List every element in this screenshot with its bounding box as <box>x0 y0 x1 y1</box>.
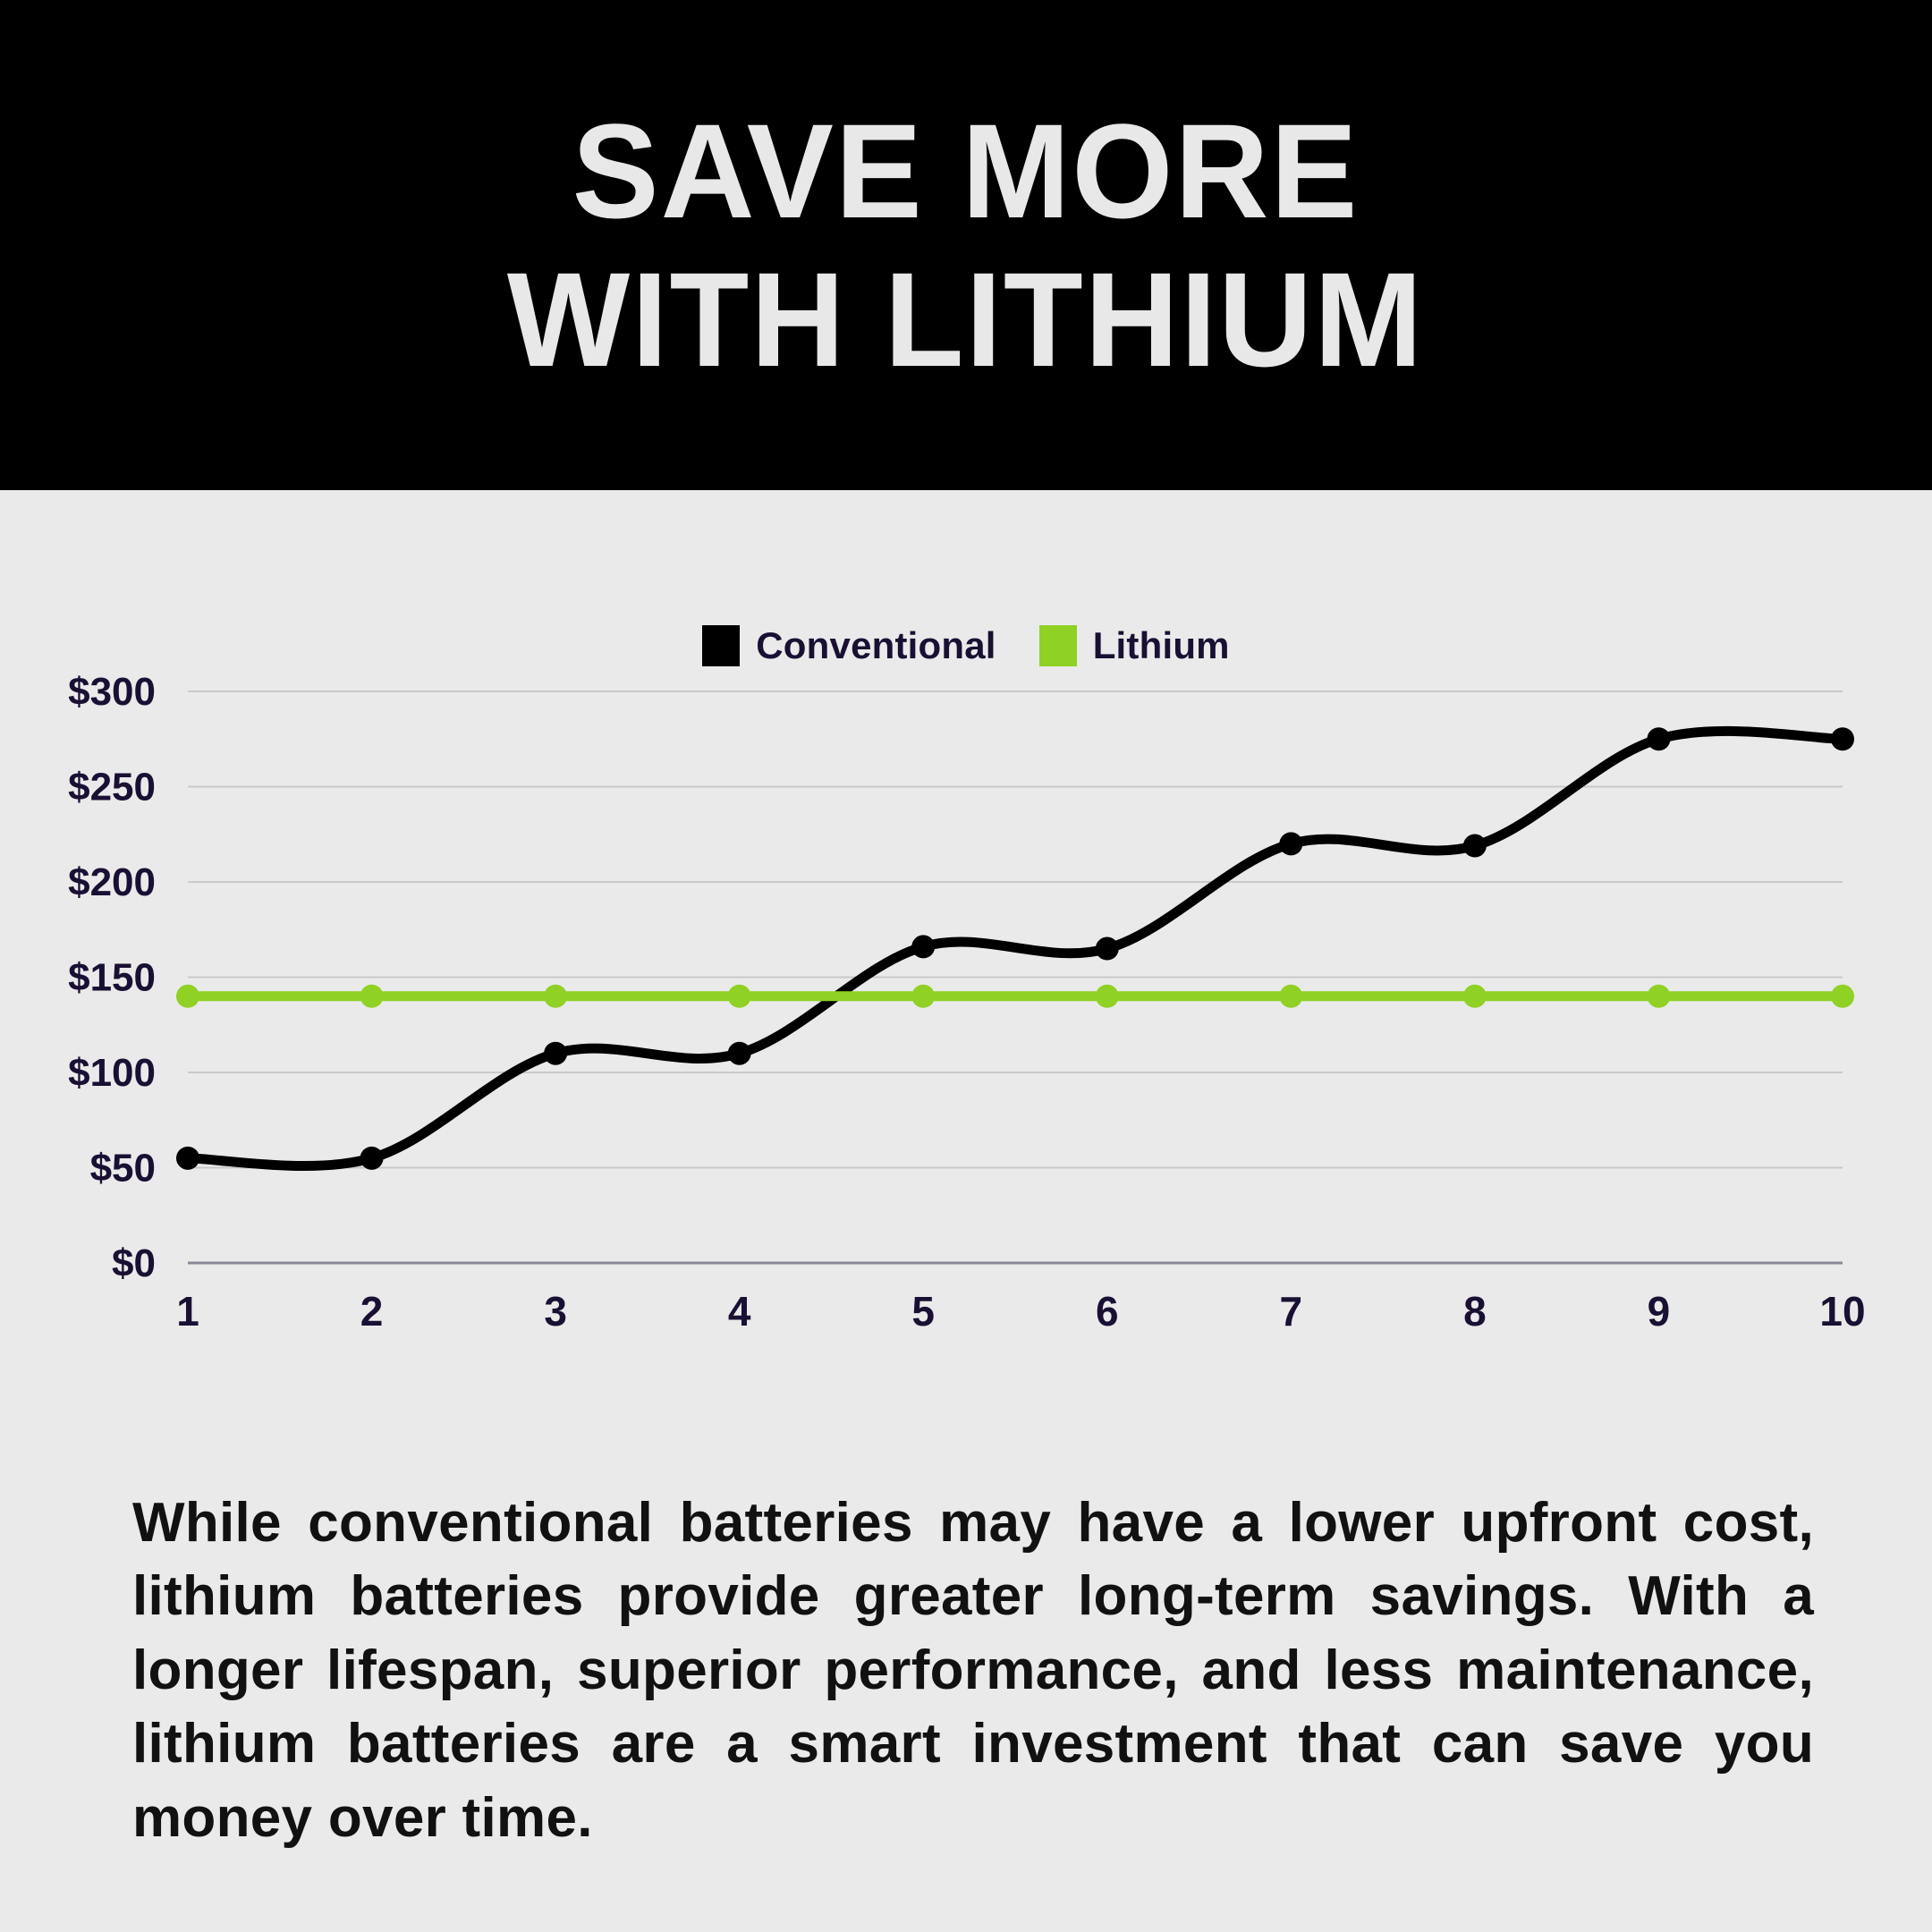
x-axis-tick-4: 4 <box>728 1288 751 1335</box>
x-axis-tick-2: 2 <box>360 1288 384 1335</box>
description-paragraph: While conventional batteries may have a … <box>132 1487 1814 1855</box>
data-point-lithium-4[interactable] <box>728 985 751 1008</box>
y-axis-tick-0: $0 <box>112 1241 156 1285</box>
data-point-conventional-10[interactable] <box>1831 727 1854 750</box>
infographic-page: SAVE MORE WITH LITHIUM Conventional Lith… <box>0 0 1932 1932</box>
data-point-lithium-2[interactable] <box>360 985 384 1008</box>
data-point-conventional-5[interactable] <box>911 935 935 958</box>
x-axis-tick-8: 8 <box>1463 1288 1487 1335</box>
series-conventional <box>176 727 1854 1170</box>
series-lithium <box>176 985 1854 1008</box>
plot-area: $0$50$100$150$200$250$30012345678910 <box>0 490 1932 1394</box>
data-point-conventional-3[interactable] <box>544 1042 567 1065</box>
line-chart-svg: $0$50$100$150$200$250$30012345678910 <box>0 490 1932 1394</box>
data-point-lithium-7[interactable] <box>1279 985 1302 1008</box>
x-axis-tick-3: 3 <box>544 1288 567 1335</box>
data-point-lithium-9[interactable] <box>1647 985 1670 1008</box>
x-axis-tick-9: 9 <box>1648 1288 1671 1335</box>
chart-section: Conventional Lithium $0$50$100$150$200$2… <box>0 490 1932 1394</box>
data-point-conventional-1[interactable] <box>176 1147 199 1170</box>
x-axis-tick-1: 1 <box>176 1288 199 1335</box>
y-axis-tick-150: $150 <box>68 956 156 1000</box>
y-axis-tick-300: $300 <box>68 670 156 714</box>
data-point-lithium-3[interactable] <box>544 985 567 1008</box>
data-point-lithium-10[interactable] <box>1831 985 1854 1008</box>
page-title-line-2: WITH LITHIUM <box>507 252 1424 386</box>
data-point-conventional-8[interactable] <box>1463 835 1487 858</box>
data-point-lithium-5[interactable] <box>911 985 935 1008</box>
data-point-lithium-8[interactable] <box>1463 985 1487 1008</box>
x-axis-tick-5: 5 <box>911 1288 935 1335</box>
y-axis-tick-250: $250 <box>68 766 156 809</box>
series-line-conventional <box>188 731 1843 1165</box>
x-axis-tick-10: 10 <box>1819 1288 1865 1335</box>
data-point-conventional-2[interactable] <box>360 1147 384 1170</box>
y-axis-tick-50: $50 <box>90 1147 156 1191</box>
x-axis-tick-6: 6 <box>1096 1288 1119 1335</box>
header-banner: SAVE MORE WITH LITHIUM <box>0 0 1932 490</box>
data-point-lithium-1[interactable] <box>176 985 199 1008</box>
data-point-conventional-6[interactable] <box>1096 937 1119 961</box>
data-point-conventional-7[interactable] <box>1279 832 1302 855</box>
data-point-conventional-9[interactable] <box>1647 727 1670 750</box>
x-axis-tick-7: 7 <box>1280 1288 1303 1335</box>
data-point-conventional-4[interactable] <box>728 1042 751 1065</box>
data-point-lithium-6[interactable] <box>1096 985 1119 1008</box>
y-axis-tick-200: $200 <box>68 860 156 904</box>
y-axis-tick-100: $100 <box>68 1051 156 1095</box>
page-title-line-1: SAVE MORE <box>572 104 1360 238</box>
